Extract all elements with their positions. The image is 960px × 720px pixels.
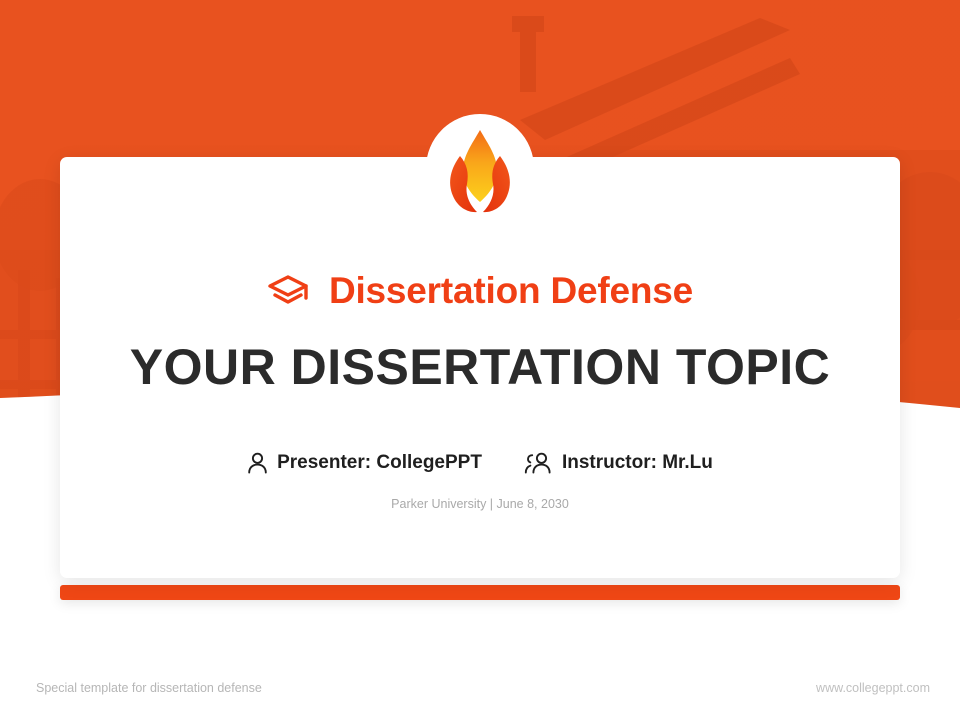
card-accent-bar [60,585,900,600]
instructor-credit: Instructor: Mr.Lu [524,452,713,474]
logo-medallion [426,114,534,222]
affiliation-date: Parker University | June 8, 2030 [0,497,960,511]
presenter-credit: Presenter: CollegePPT [247,452,482,474]
presenter-label: Presenter: CollegePPT [277,452,482,474]
page-title: YOUR DISSERTATION TOPIC [0,340,960,395]
footer-website: www.collegeppt.com [816,681,930,695]
group-icon [524,452,553,474]
footer-left-note: Special template for dissertation defens… [36,681,262,695]
flame-core [463,130,497,202]
graduation-cap-icon [267,274,311,308]
presentation-slide: Dissertation Defense YOUR DISSERTATION T… [0,0,960,720]
eyebrow-label: Dissertation Defense [329,272,693,309]
flame-logo-icon [447,128,513,214]
person-icon [247,452,268,474]
instructor-label: Instructor: Mr.Lu [562,452,713,474]
eyebrow-row: Dissertation Defense [0,272,960,309]
credits-row: Presenter: CollegePPT Instructor: Mr.Lu [0,452,960,474]
